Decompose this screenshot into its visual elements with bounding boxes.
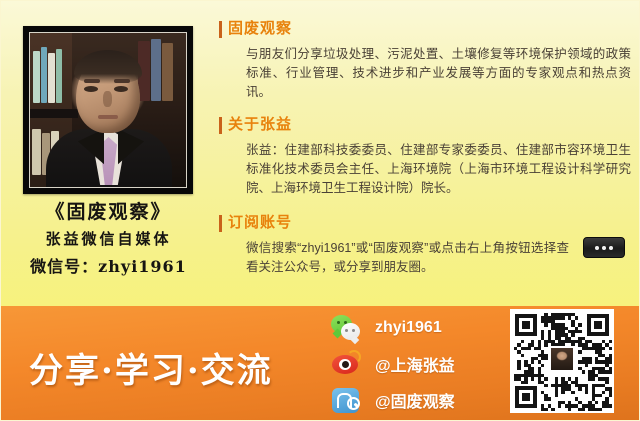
section-about-zhangyi: 关于张益 张益：住建部科技委委员、住建部专家委委员、住建部市容环境卫生标准化技术…: [216, 115, 640, 198]
section-heading: 关于张益: [216, 115, 640, 135]
section-body: 微信搜索“zhyi1961”或“固废观察”或点击右上角按钮选择查看关注公众号，或…: [216, 239, 640, 277]
social-item-weibo[interactable]: @上海张益: [331, 346, 506, 382]
profile-title: 《固废观察》: [1, 199, 216, 225]
profile-subtitle: 张益微信自媒体: [1, 226, 216, 252]
photo-book: [48, 53, 55, 103]
profile-left-column: 《固废观察》 张益微信自媒体 微信号：zhyi1961: [1, 1, 216, 306]
section-body: 与朋友们分享垃圾处理、污泥处置、土壤修复等环境保护领域的政策标准、行业管理、技术…: [216, 45, 640, 102]
social-item-wechat[interactable]: zhyi1961: [331, 310, 506, 346]
more-options-icon[interactable]: [583, 237, 625, 258]
photo-book: [56, 49, 62, 103]
social-label: @上海张益: [375, 352, 455, 376]
portrait-photo: [30, 33, 186, 187]
dot: [595, 246, 599, 250]
photo-book: [151, 39, 161, 101]
photo-mouth: [98, 115, 118, 119]
photo-eye-right: [114, 86, 128, 92]
social-list: zhyi1961 @上海张益 @固废观察: [331, 310, 506, 418]
profile-caption: 《固废观察》 张益微信自媒体 微信号：zhyi1961: [1, 199, 216, 280]
photo-book: [41, 47, 47, 103]
social-label: @固废观察: [375, 388, 455, 412]
photo-brow-left: [84, 79, 100, 83]
photo-eye-left: [84, 86, 98, 92]
profile-right-column: 固废观察 与朋友们分享垃圾处理、污泥处置、土壤修复等环境保护领域的政策标准、行业…: [216, 1, 640, 306]
qr-center-logo: [549, 346, 575, 372]
photo-nose: [103, 91, 112, 107]
profile-wechat-id: 微信号：zhyi1961: [1, 254, 216, 280]
section-heading: 固废观察: [216, 19, 640, 39]
qr-finder-top-right: [587, 314, 609, 336]
photo-shelf-edge: [30, 109, 78, 118]
search-blue-icon: [331, 385, 361, 415]
section-guanfei-guancha: 固废观察 与朋友们分享垃圾处理、污泥处置、土壤修复等环境保护领域的政策标准、行业…: [216, 19, 640, 102]
photo-book: [32, 129, 41, 175]
weibo-icon: [331, 349, 361, 379]
profile-card: 《固废观察》 张益微信自媒体 微信号：zhyi1961 固废观察 与朋友们分享垃…: [0, 0, 640, 421]
qr-finder-top-left: [515, 314, 537, 336]
photo-brow-right: [114, 79, 130, 83]
qr-code-pattern: [513, 312, 611, 410]
qr-code[interactable]: [510, 309, 614, 413]
footer-slogan: 分享·学习·交流: [29, 343, 319, 392]
social-label: zhyi1961: [375, 319, 442, 337]
section-body: 张益：住建部科技委委员、住建部专家委委员、住建部市容环境卫生标准化技术委员会主任…: [216, 141, 640, 198]
photo-book: [162, 43, 173, 101]
social-item-search[interactable]: @固废观察: [331, 382, 506, 418]
dot: [609, 246, 613, 250]
dot: [602, 246, 606, 250]
portrait-inner-border: [29, 32, 187, 188]
wechat-icon: [331, 313, 361, 343]
photo-book: [33, 51, 40, 103]
section-heading: 订阅账号: [216, 213, 640, 233]
portrait-frame: [23, 26, 193, 194]
section-subscribe-account: 订阅账号 微信搜索“zhyi1961”或“固废观察”或点击右上角按钮选择查看关注…: [216, 213, 640, 277]
qr-finder-bottom-left: [515, 386, 537, 408]
